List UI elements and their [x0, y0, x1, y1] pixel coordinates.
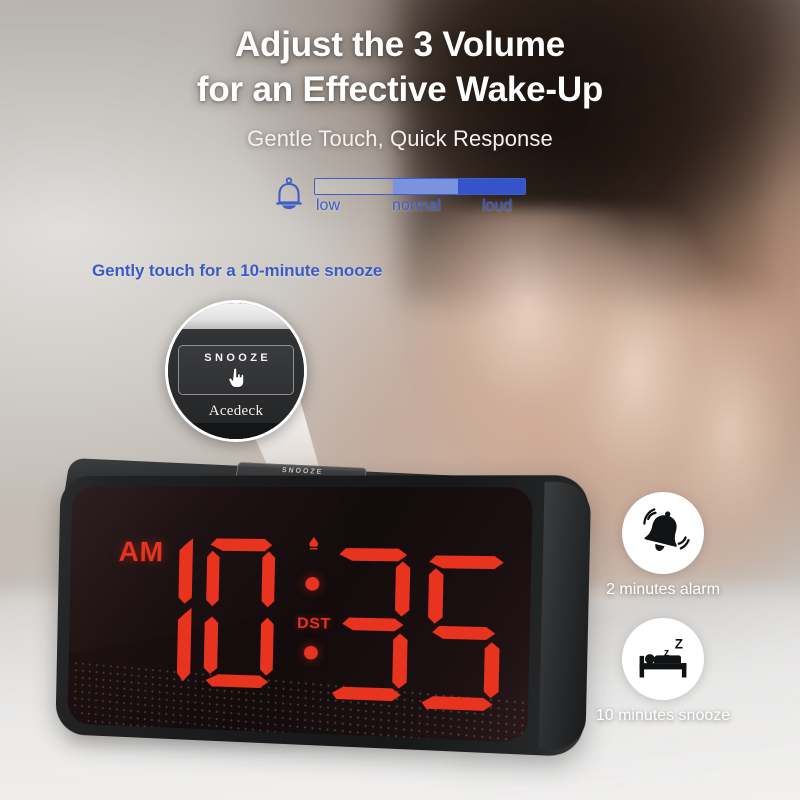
snooze-callout-caption: Gently touch for a 10-minute snooze	[92, 261, 382, 281]
feature-snooze-duration: Z z 10 minutes snooze	[622, 618, 704, 725]
volume-meter: low normal loud	[272, 176, 528, 222]
snooze-key-label: SNOOZE	[179, 352, 293, 364]
snooze-magnifier-callout: SNOOZE Acedeck	[160, 296, 312, 446]
magnifier-top-gloss	[168, 303, 304, 329]
ringing-bell-icon	[622, 492, 704, 574]
digit-hour-ones	[199, 530, 280, 697]
volume-segment-loud[interactable]	[458, 179, 525, 194]
magnifier-bottom-edge	[168, 423, 304, 439]
headline-line-2: for an Effective Wake-Up	[0, 67, 800, 112]
magnifier-brand-label: Acedeck	[168, 403, 304, 420]
digit-hour-tens	[154, 530, 198, 694]
volume-label-normal: normal	[392, 197, 441, 215]
magnifier-circle: SNOOZE Acedeck	[165, 300, 307, 442]
pointing-hand-cursor-icon	[228, 368, 245, 390]
product-marketing-image: Adjust the 3 Volume for an Effective Wak…	[0, 0, 800, 800]
volume-labels: low normal loud	[314, 197, 526, 219]
led-readout: AM DST	[67, 487, 533, 743]
person-sleeping-in-bed-icon: Z z	[622, 618, 704, 700]
subtitle: Gentle Touch, Quick Response	[0, 126, 800, 152]
svg-text:Z: Z	[675, 636, 683, 651]
headline-line-1: Adjust the 3 Volume	[235, 25, 565, 64]
volume-segment-normal[interactable]	[393, 179, 458, 194]
feature-snooze-label: 10 minutes snooze	[566, 707, 760, 725]
volume-level-bar[interactable]	[314, 178, 526, 195]
volume-label-low: low	[316, 197, 340, 215]
digit-minute-tens	[332, 540, 417, 711]
snooze-key[interactable]: SNOOZE	[178, 345, 294, 395]
volume-label-loud: loud	[482, 197, 512, 215]
time-digits	[154, 526, 514, 712]
alarm-clock-device: SNOOZE Acedeck AM DS	[58, 452, 558, 744]
volume-segment-low[interactable]	[315, 179, 393, 194]
feature-alarm-label: 2 minutes alarm	[572, 581, 754, 599]
clock-display-screen: AM DST	[67, 487, 533, 743]
bell-outline-icon	[272, 176, 306, 216]
clock-body: AM DST	[55, 475, 589, 757]
digit-minute-ones	[421, 547, 508, 720]
headline: Adjust the 3 Volume for an Effective Wak…	[0, 22, 800, 112]
feature-alarm-duration: 2 minutes alarm	[622, 492, 704, 599]
